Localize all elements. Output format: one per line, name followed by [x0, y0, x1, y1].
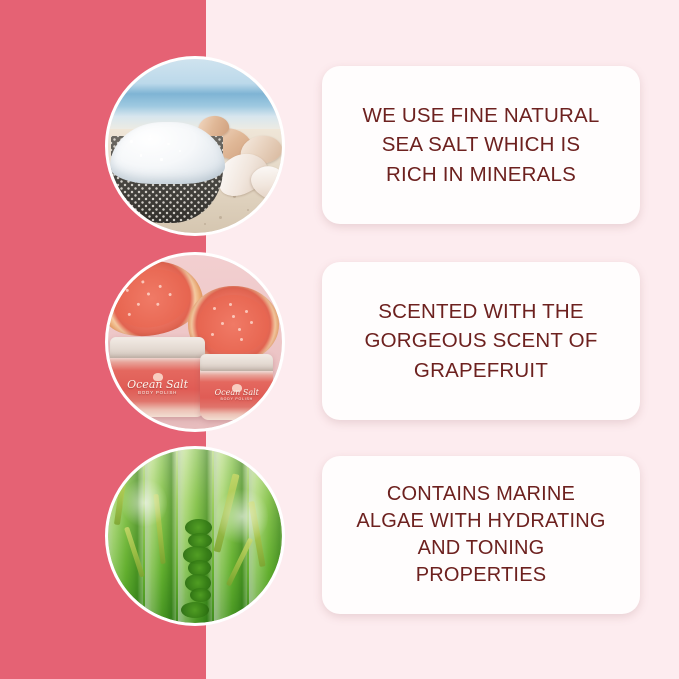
infographic-canvas: WE USE FINE NATURAL SEA SALT WHICH IS RI…: [0, 0, 679, 679]
feature-card-marine-algae: CONTAINS MARINE ALGAE WITH HYDRATING AND…: [322, 456, 640, 614]
feature-card-grapefruit: SCENTED WITH THE GORGEOUS SCENT OF GRAPE…: [322, 262, 640, 420]
feature-text-grapefruit: SCENTED WITH THE GORGEOUS SCENT OF GRAPE…: [364, 297, 597, 384]
feature-text-marine-algae: CONTAINS MARINE ALGAE WITH HYDRATING AND…: [356, 481, 605, 590]
marine-algae-test-tubes-photo: [105, 446, 285, 626]
product-jar-small-name: Ocean Salt: [215, 388, 259, 397]
product-jar-small: Ocean Salt BODY POLISH: [200, 354, 273, 420]
product-jar-small-subtitle: BODY POLISH: [208, 398, 266, 402]
ocean-salt-jars-with-grapefruit-photo: Ocean Salt BODY POLISH Ocean Salt BODY P…: [105, 252, 285, 432]
product-jar-large: Ocean Salt BODY POLISH: [110, 337, 206, 417]
sea-salt-bowl-on-beach-photo: [105, 56, 285, 236]
feature-row-marine-algae: CONTAINS MARINE ALGAE WITH HYDRATING AND…: [0, 446, 679, 636]
product-jar-large-subtitle: BODY POLISH: [119, 391, 196, 396]
feature-row-grapefruit: Ocean Salt BODY POLISH Ocean Salt BODY P…: [0, 252, 679, 442]
feature-text-sea-salt: WE USE FINE NATURAL SEA SALT WHICH IS RI…: [363, 101, 600, 188]
feature-card-sea-salt: WE USE FINE NATURAL SEA SALT WHICH IS RI…: [322, 66, 640, 224]
feature-row-sea-salt: WE USE FINE NATURAL SEA SALT WHICH IS RI…: [0, 56, 679, 246]
